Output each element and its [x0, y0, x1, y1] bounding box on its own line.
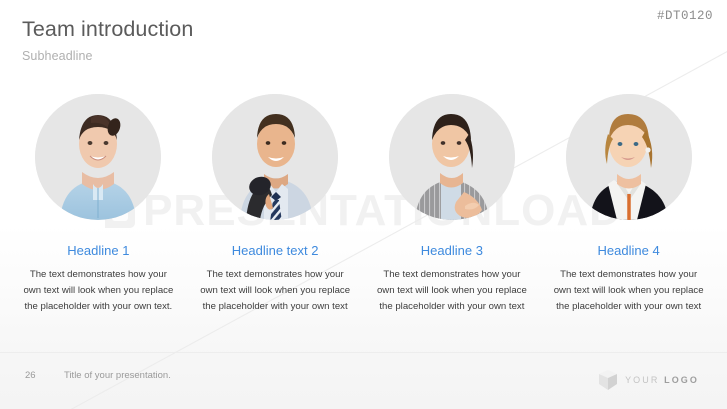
logo-word-your: YOUR — [625, 375, 659, 385]
slide-canvas: PRESENTATIONLOAD Team introduction Subhe… — [0, 0, 727, 409]
document-code: #DT0120 — [657, 9, 713, 23]
footer-divider — [0, 352, 727, 353]
photo-blonde-woman-black-blazer — [566, 94, 692, 220]
member-headline: Headline 3 — [421, 244, 483, 258]
member-body-text: The text demonstrates how your own text … — [199, 267, 351, 315]
photo-woman-light-blue-shirt — [35, 94, 161, 220]
page-title: Team introduction — [22, 18, 193, 42]
member-body-text: The text demonstrates how your own text … — [376, 267, 528, 315]
logo-text: YOUR LOGO — [625, 375, 699, 385]
team-member-card[interactable]: Headline 3 The text demonstrates how you… — [364, 94, 541, 315]
footer-presentation-title: Title of your presentation. — [64, 370, 171, 381]
avatar[interactable] — [566, 94, 692, 220]
team-member-grid: Headline 1 The text demonstrates how you… — [10, 94, 717, 315]
cube-logo-icon — [598, 369, 618, 391]
member-headline: Headline 1 — [67, 244, 129, 258]
photo-woman-grey-pinstripe-blazer — [389, 94, 515, 220]
team-member-card[interactable]: Headline 4 The text demonstrates how you… — [540, 94, 717, 315]
slide-header: Team introduction Subheadline — [22, 18, 193, 63]
photo-man-jacket-striped-tie — [212, 94, 338, 220]
team-member-card[interactable]: Headline text 2 The text demonstrates ho… — [187, 94, 364, 315]
avatar[interactable] — [35, 94, 161, 220]
member-body-text: The text demonstrates how your own text … — [553, 267, 705, 315]
logo[interactable]: YOUR LOGO — [598, 369, 699, 391]
member-headline: Headline text 2 — [232, 244, 319, 258]
member-body-text: The text demonstrates how your own text … — [22, 267, 174, 315]
member-headline: Headline 4 — [598, 244, 660, 258]
avatar[interactable] — [212, 94, 338, 220]
page-number: 26 — [25, 370, 36, 381]
logo-word-logo: LOGO — [664, 375, 699, 385]
page-subtitle: Subheadline — [22, 49, 193, 63]
avatar[interactable] — [389, 94, 515, 220]
team-member-card[interactable]: Headline 1 The text demonstrates how you… — [10, 94, 187, 315]
